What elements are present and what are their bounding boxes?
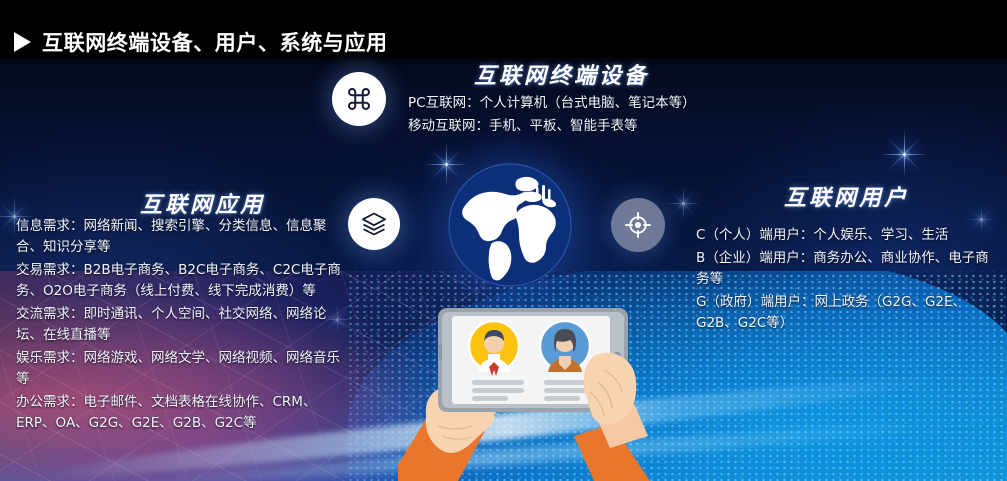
tablet-side-button xyxy=(439,344,442,360)
devices-line: 移动互联网：手机、平板、智能手表等 xyxy=(408,116,728,137)
users-line: C（个人）端用户：个人娱乐、学习、生活 xyxy=(696,225,996,246)
devices-heading: 互联网终端设备 xyxy=(474,58,649,90)
devices-line: PC互联网：个人计算机（台式电脑、笔记本等） xyxy=(408,93,728,114)
slide-title-row: 互联网终端设备、用户、系统与应用 xyxy=(14,27,388,57)
slide-canvas: 互联网终端设备、用户、系统与应用 互联网终端设备 PC互联网：个人计算机（台式电… xyxy=(0,0,1007,481)
applications-heading: 互联网应用 xyxy=(140,187,265,219)
users-heading: 互联网用户 xyxy=(784,180,909,212)
applications-line: 娱乐需求：网络游戏、网络文学、网络视频、网络音乐等 xyxy=(16,348,346,390)
devices-text-block: PC互联网：个人计算机（台式电脑、笔记本等） 移动互联网：手机、平板、智能手表等 xyxy=(408,93,728,139)
applications-line: 交流需求：即时通讯、个人空间、社交网络、网络论坛、在线直播等 xyxy=(16,304,346,346)
applications-line: 信息需求：网络新闻、搜索引擎、分类信息、信息聚合、知识分享等 xyxy=(16,216,346,258)
users-line: B（企业）端用户：商务办公、商业协作、电子商务等 xyxy=(696,248,996,290)
layers-icon xyxy=(360,210,388,238)
applications-text-block: 信息需求：网络新闻、搜索引擎、分类信息、信息聚合、知识分享等 交易需求：B2B电… xyxy=(16,216,346,436)
target-crosshair-icon xyxy=(623,210,653,240)
device-command-icon-badge[interactable] xyxy=(332,72,386,126)
applications-line: 交易需求：B2B电子商务、B2C电子商务、C2C电子商务、O2O电子商务（线上付… xyxy=(16,260,346,302)
hands-holding-tablet-illustration xyxy=(398,296,708,481)
users-line: G（政府）端用户：网上政务（G2G、G2E、G2B、G2C等） xyxy=(696,292,996,334)
page-title: 互联网终端设备、用户、系统与应用 xyxy=(42,27,388,57)
tablet-illustration-svg xyxy=(398,296,708,481)
globe-continents xyxy=(448,163,572,287)
target-crosshair-icon-badge[interactable] xyxy=(611,198,665,252)
layers-icon-badge[interactable] xyxy=(348,198,400,250)
play-triangle-icon xyxy=(14,32,31,52)
applications-line: 办公需求：电子邮件、文档表格在线协作、CRM、ERP、OA、G2G、G2E、G2… xyxy=(16,392,346,434)
device-command-icon xyxy=(344,84,374,114)
world-globe-icon xyxy=(448,163,572,287)
users-text-block: C（个人）端用户：个人娱乐、学习、生活 B（企业）端用户：商务办公、商业协作、电… xyxy=(696,225,996,336)
